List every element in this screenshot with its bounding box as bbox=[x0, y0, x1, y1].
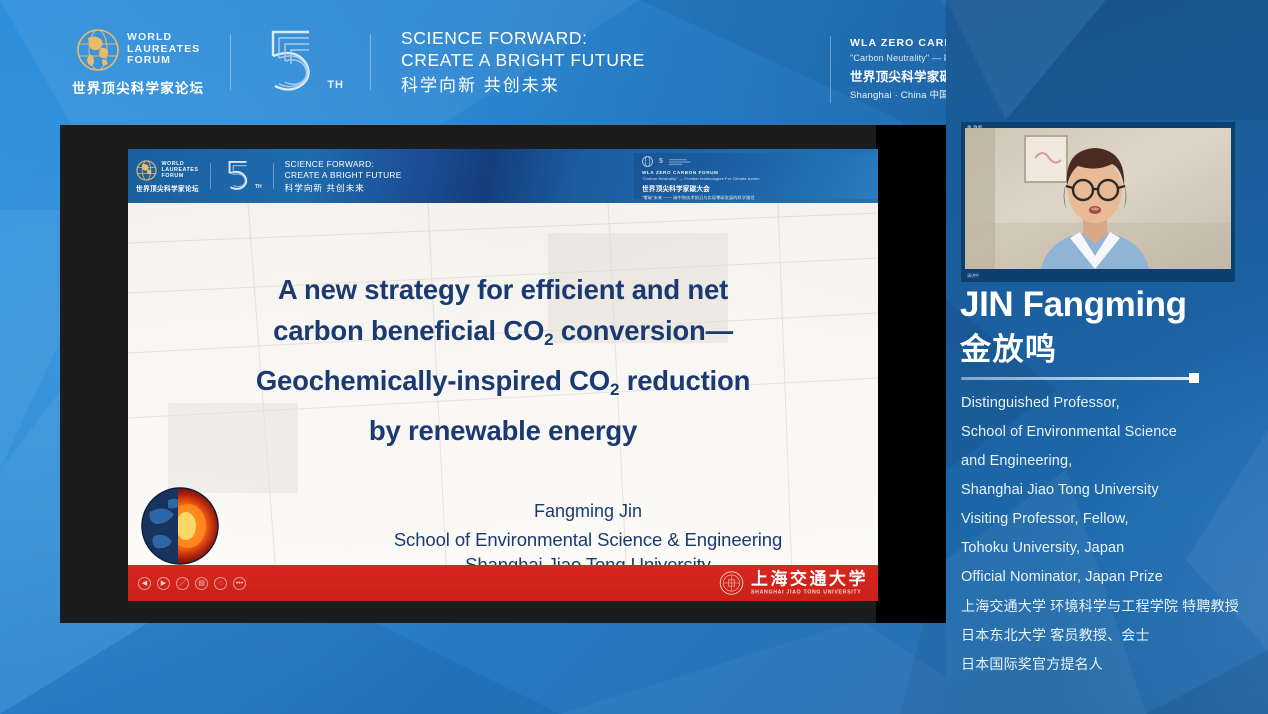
bio-line-6: Tohoku University, Japan bbox=[961, 534, 1261, 563]
bio-line-1: Distinguished Professor, bbox=[961, 389, 1261, 418]
slide-wla-english: WORLD LAUREATES FORUM bbox=[161, 161, 198, 179]
slide-forum-cn-title: 世界顶尖科学家碳大会 bbox=[642, 183, 872, 193]
speaker-video-tile[interactable]: 金 放鸣 bbox=[961, 122, 1235, 282]
wla-logo: WORLD LAUREATES FORUM 世界顶尖科学家论坛 bbox=[72, 28, 204, 97]
edition-5th-logo: TH bbox=[257, 26, 344, 98]
slide-forum-en-sub: "Carbon Neutrality" — Frontier technolog… bbox=[642, 176, 872, 181]
speaker-bio-list: Distinguished Professor, School of Envir… bbox=[961, 389, 1261, 679]
slide-slogan-cn: 科学向新 共创未来 bbox=[285, 182, 402, 194]
slide-title-line-3: Geochemically-inspired CO2 reduction bbox=[168, 360, 838, 410]
slide-slogan: SCIENCE FORWARD: CREATE A BRIGHT FUTURE … bbox=[285, 159, 402, 194]
slide-title-line-2-part-b: conversion— bbox=[553, 315, 732, 346]
edition-suffix: TH bbox=[327, 79, 344, 98]
slide-title-line-4: by renewable energy bbox=[168, 410, 838, 451]
slide-edition-logo: TH bbox=[222, 159, 262, 193]
slide-title-line-3-part-b: reduction bbox=[619, 365, 750, 396]
bio-line-cn-1: 上海交通大学 环境科学与工程学院 特聘教授 bbox=[961, 592, 1261, 621]
slide-footer-bar: ◀ ▶ ／ ▤ ◌ ••• 上海交通大学 SH bbox=[128, 565, 878, 601]
slide-forum-wordmark-icon bbox=[669, 158, 691, 166]
globe-icon bbox=[76, 28, 120, 72]
letterbox-bar bbox=[876, 125, 946, 623]
slide-overview-icon[interactable]: ▤ bbox=[195, 577, 208, 590]
slide-wla-chinese: 世界顶尖科学家论坛 bbox=[136, 183, 199, 193]
broadcast-stage: WORLD LAUREATES FORUM 世界顶尖科学家论坛 bbox=[0, 0, 1268, 714]
slogan-english-line-1: SCIENCE FORWARD: bbox=[401, 27, 645, 49]
slide-forum-cn-sub: “零碳”未来 —— 碳中和技术前沿与实现零碳发展的科学路径 bbox=[642, 195, 872, 201]
slide-forum-en-title: WLA ZERO CARBON FORUM bbox=[642, 170, 872, 175]
header-divider-2 bbox=[370, 34, 371, 90]
slide-title-line-3-part-a: Geochemically-inspired CO bbox=[256, 365, 610, 396]
speaker-video-status-tag: 演讲中 bbox=[967, 273, 979, 279]
numeral-five-icon bbox=[257, 26, 325, 98]
slogan-chinese: 科学向新 共创未来 bbox=[401, 74, 645, 98]
bio-line-4: Shanghai Jiao Tong University bbox=[961, 476, 1261, 505]
slide-banner-divider-1 bbox=[210, 163, 211, 189]
speaker-name-chinese: 金放鸣 bbox=[960, 330, 1058, 370]
slide-edition-suffix: TH bbox=[255, 184, 262, 193]
slide-author-name: Fangming Jin bbox=[308, 499, 868, 524]
slide-banner-left: WORLD LAUREATES FORUM 世界顶尖科学家论坛 bbox=[128, 149, 402, 203]
slide-forum-mini-logos: 5 bbox=[642, 156, 872, 167]
slide-title-line-3-subscript: 2 bbox=[610, 380, 619, 399]
presentation-slide[interactable]: WORLD LAUREATES FORUM 世界顶尖科学家论坛 bbox=[128, 149, 878, 601]
speaker-portrait-icon bbox=[965, 128, 1231, 269]
header-divider-1 bbox=[230, 34, 231, 90]
slide-slogan-en-1: SCIENCE FORWARD: bbox=[285, 159, 402, 170]
sjtu-name-english: SHANGHAI JIAO TONG UNIVERSITY bbox=[751, 589, 868, 597]
speaker-name-english: JIN Fangming bbox=[960, 284, 1187, 326]
sjtu-logo: 上海交通大学 SHANGHAI JIAO TONG UNIVERSITY bbox=[719, 570, 868, 597]
speaker-divider-rule bbox=[961, 377, 1194, 380]
wla-logo-chinese: 世界顶尖科学家论坛 bbox=[72, 77, 204, 97]
event-slogan: SCIENCE FORWARD: CREATE A BRIGHT FUTURE … bbox=[401, 27, 645, 98]
slide-affiliation-line-1: School of Environmental Science & Engine… bbox=[308, 527, 868, 552]
slide-wla-line-3: FORUM bbox=[161, 173, 198, 179]
bio-line-7: Official Nominator, Japan Prize bbox=[961, 563, 1261, 592]
slide-forum-five: 5 bbox=[659, 158, 663, 165]
zoom-magnifier-icon[interactable]: ◌ bbox=[214, 577, 227, 590]
slide-banner-divider-2 bbox=[273, 163, 274, 189]
speaker-bio-panel: 金 放鸣 bbox=[946, 0, 1268, 714]
presentation-video-frame[interactable]: WORLD LAUREATES FORUM 世界顶尖科学家论坛 bbox=[60, 125, 946, 623]
slide-title: A new strategy for efficient and net car… bbox=[168, 269, 838, 451]
slogan-english-line-2: CREATE A BRIGHT FUTURE bbox=[401, 49, 645, 71]
wla-logo-line-3: FORUM bbox=[127, 55, 200, 67]
wla-logo-english: WORLD LAUREATES FORUM bbox=[127, 32, 200, 67]
bio-line-2: School of Environmental Science bbox=[961, 418, 1261, 447]
slide-numeral-five-icon bbox=[222, 159, 254, 193]
sjtu-seal-icon bbox=[719, 571, 744, 596]
slide-globe-icon bbox=[136, 160, 157, 181]
more-options-icon[interactable]: ••• bbox=[233, 577, 246, 590]
header-left-group: WORLD LAUREATES FORUM 世界顶尖科学家论坛 bbox=[0, 0, 645, 124]
slide-control-bar[interactable]: ◀ ▶ ／ ▤ ◌ ••• bbox=[128, 577, 246, 590]
slide-wla-logo: WORLD LAUREATES FORUM 世界顶尖科学家论坛 bbox=[136, 160, 199, 193]
speaker-divider-knob bbox=[1189, 373, 1199, 383]
slide-title-line-1: A new strategy for efficient and net bbox=[168, 269, 838, 310]
speaker-video-feed bbox=[965, 128, 1231, 269]
slide-forum-globe-icon bbox=[642, 156, 653, 167]
slide-header-banner: WORLD LAUREATES FORUM 世界顶尖科学家论坛 bbox=[128, 149, 878, 203]
earth-cutaway-icon bbox=[138, 484, 222, 568]
bio-line-3: and Engineering, bbox=[961, 447, 1261, 476]
bio-line-5: Visiting Professor, Fellow, bbox=[961, 505, 1261, 534]
slide-title-line-2-part-a: carbon beneficial CO bbox=[273, 315, 544, 346]
slide-slogan-en-2: CREATE A BRIGHT FUTURE bbox=[285, 170, 402, 181]
slide-title-line-2: carbon beneficial CO2 conversion— bbox=[168, 310, 838, 360]
bio-line-cn-2: 日本东北大学 客员教授、会士 bbox=[961, 621, 1261, 650]
previous-slide-icon[interactable]: ◀ bbox=[138, 577, 151, 590]
sjtu-name-chinese: 上海交通大学 bbox=[751, 570, 868, 589]
slide-forum-block: 5 WLA ZERO CARBON FORUM "Carbon Neutrali… bbox=[634, 153, 878, 199]
bio-line-cn-3: 日本国际奖官方提名人 bbox=[961, 650, 1261, 679]
next-slide-icon[interactable]: ▶ bbox=[157, 577, 170, 590]
pen-annotate-icon[interactable]: ／ bbox=[176, 577, 189, 590]
